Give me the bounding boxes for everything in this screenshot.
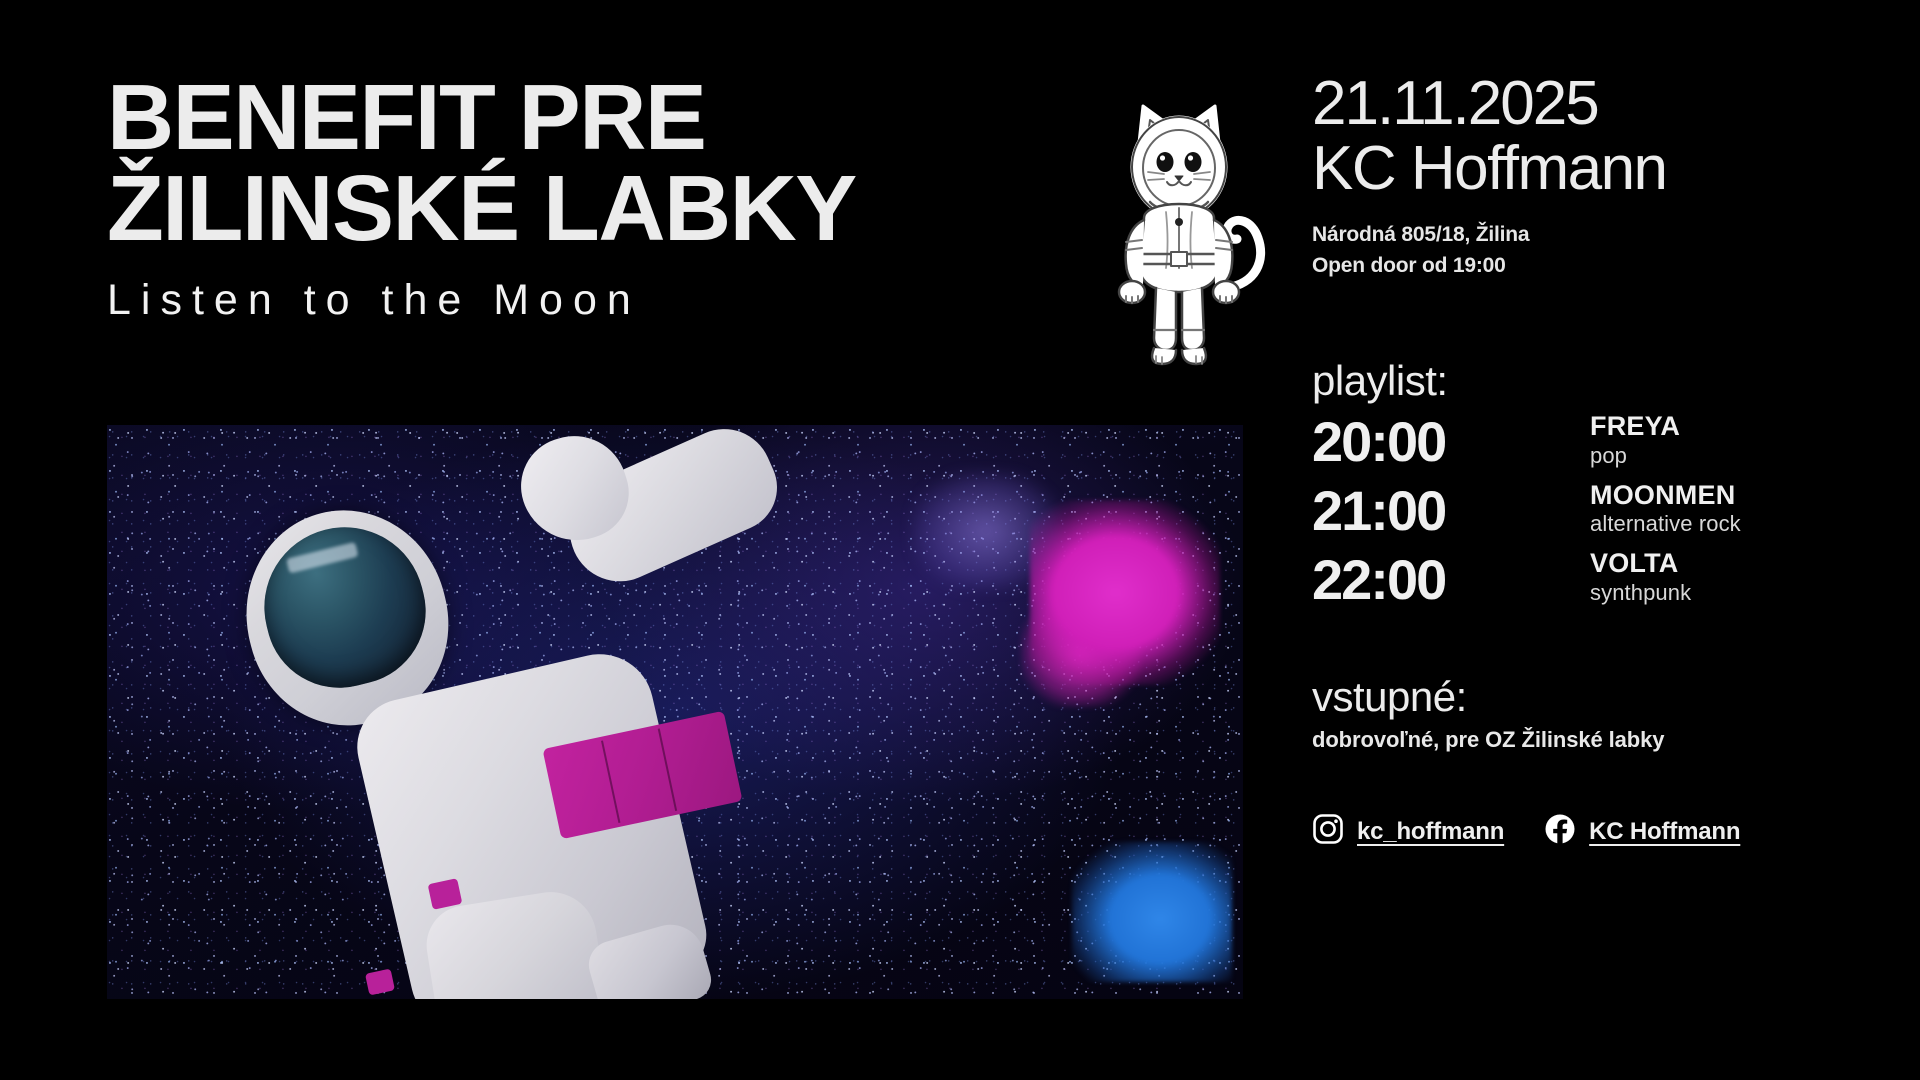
act-name: FREYA [1590, 412, 1680, 442]
playlist-section: playlist: 20:00 FREYA pop 21:00 MOONMEN … [1312, 357, 1872, 611]
act-genre: synthpunk [1590, 579, 1691, 607]
facebook-icon [1544, 813, 1576, 850]
astronaut-cat-icon [1098, 92, 1278, 372]
act-info: MOONMEN alternative rock [1590, 481, 1741, 542]
doors-open-time: Open door od 19:00 [1312, 251, 1872, 281]
social-links: kc_hoffmann KC Hoffmann [1312, 813, 1872, 850]
poster-title-line-2: ŽILINSKÉ LABKY [107, 163, 1247, 254]
astronaut-visor [248, 510, 442, 703]
admission-note: dobrovoľné, pre OZ Žilinské labky [1312, 727, 1872, 753]
instagram-handle[interactable]: kc_hoffmann [1357, 818, 1504, 846]
act-time: 20:00 [1312, 411, 1590, 474]
info-column: 21.11.2025 KC Hoffmann Národná 805/18, Ž… [1312, 72, 1872, 850]
venue-address: Národná 805/18, Žilina [1312, 220, 1872, 250]
cyan-nebula [1072, 842, 1232, 982]
act-time: 22:00 [1312, 549, 1590, 612]
playlist-heading: playlist: [1312, 357, 1872, 405]
event-venue: KC Hoffmann [1312, 136, 1872, 202]
act-genre: pop [1590, 442, 1680, 470]
playlist-item: 22:00 VOLTA synthpunk [1312, 549, 1872, 612]
admission-section: vstupné: dobrovoľné, pre OZ Žilinské lab… [1312, 673, 1872, 753]
act-time: 21:00 [1312, 480, 1590, 543]
venue-address-block: Národná 805/18, Žilina Open door od 19:0… [1312, 220, 1872, 281]
title-block: BENEFIT PRE ŽILINSKÉ LABKY [107, 72, 1247, 254]
magenta-nebula [1030, 500, 1220, 685]
title-column: BENEFIT PRE ŽILINSKÉ LABKY Listen to the… [107, 72, 1247, 325]
astronaut-figure [198, 436, 902, 999]
admission-heading: vstupné: [1312, 673, 1872, 721]
act-name: MOONMEN [1590, 481, 1741, 511]
event-poster: BENEFIT PRE ŽILINSKÉ LABKY Listen to the… [0, 0, 1920, 1080]
playlist-item: 20:00 FREYA pop [1312, 411, 1872, 474]
event-date: 21.11.2025 [1312, 72, 1872, 136]
instagram-link[interactable]: kc_hoffmann [1312, 813, 1504, 850]
astronaut-photo [107, 425, 1243, 999]
act-info: VOLTA synthpunk [1590, 549, 1691, 610]
poster-title-line-1: BENEFIT PRE [107, 72, 1247, 163]
facebook-handle[interactable]: KC Hoffmann [1589, 818, 1740, 846]
poster-subtitle: Listen to the Moon [107, 276, 1247, 325]
playlist-item: 21:00 MOONMEN alternative rock [1312, 480, 1872, 543]
instagram-icon [1312, 813, 1344, 850]
act-genre: alternative rock [1590, 510, 1741, 538]
act-name: VOLTA [1590, 549, 1691, 579]
facebook-link[interactable]: KC Hoffmann [1544, 813, 1740, 850]
astronaut-patch [365, 968, 395, 995]
act-info: FREYA pop [1590, 412, 1680, 473]
playlist-acts: 20:00 FREYA pop 21:00 MOONMEN alternativ… [1312, 411, 1872, 611]
